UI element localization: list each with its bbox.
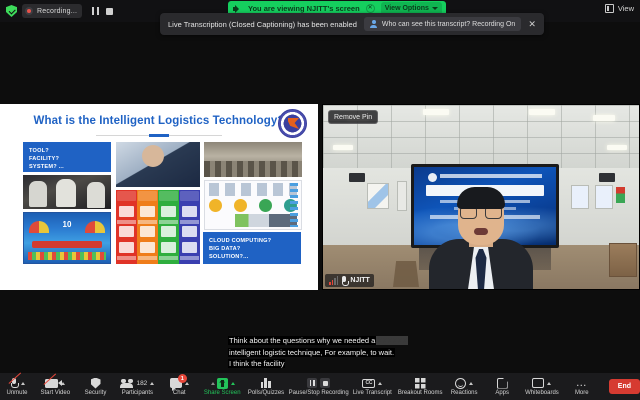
toolbar-start-video-button[interactable]: Start Video	[42, 373, 69, 400]
color-architecture-grid	[116, 190, 200, 264]
conveyor-bar	[32, 241, 102, 248]
grid-label	[159, 220, 178, 224]
caption-line-3: I think the facility	[228, 358, 428, 370]
warehouse-photo	[204, 142, 302, 177]
grid-header	[180, 191, 199, 201]
toolbar-recording-label: Pause/Stop Recording	[289, 390, 349, 396]
pause-recording-icon[interactable]	[307, 378, 317, 388]
grid-tile	[140, 226, 155, 237]
toolbar-participants-label: Participants	[122, 390, 153, 396]
chevron-up-icon[interactable]	[231, 382, 235, 385]
grid-header	[138, 191, 157, 201]
end-meeting-button[interactable]: End	[609, 379, 640, 394]
diagram-node	[259, 199, 272, 212]
toast-sub-label: Who can see this transcript? Recording O…	[382, 21, 515, 28]
chair	[393, 261, 419, 287]
share-screen-icon	[217, 378, 228, 389]
diagram-bottom-row	[235, 214, 297, 227]
caption-line-3-text: I think the facility	[228, 359, 285, 368]
closed-captions: Think about the questions why we needed …	[228, 335, 428, 370]
diagram-node	[209, 199, 222, 212]
grid-tile	[161, 206, 176, 217]
chat-icon-wrap: 1	[170, 378, 189, 389]
gauge-left-icon	[29, 221, 49, 233]
toolbar-apps-button[interactable]: Apps	[489, 373, 515, 400]
wall-map-poster	[367, 183, 389, 209]
toast-message: Live Transcription (Closed Captioning) h…	[168, 20, 357, 29]
slide-box-left-line1: TOOL?	[29, 147, 105, 155]
recording-cluster: Recording...	[6, 4, 113, 18]
mouth	[474, 228, 488, 235]
wall-signage	[616, 187, 625, 203]
chevron-up-icon[interactable]	[150, 382, 154, 385]
toolbar-polls-label: Polls/Quizzes	[248, 390, 284, 396]
meeting-toolbar: Unmute Start Video Security 182 Particip…	[0, 373, 640, 400]
record-dot-icon	[25, 7, 33, 15]
participant-name: NJITT	[350, 277, 369, 284]
chat-unread-badge: 1	[178, 374, 187, 383]
speaker-icon	[233, 4, 242, 13]
grid-label	[117, 220, 136, 224]
diagram-top-row	[209, 183, 297, 196]
view-options-label: View Options	[385, 5, 429, 12]
njitt-seal-logo	[278, 109, 307, 138]
businessman-photo	[116, 142, 200, 187]
wall-poster	[595, 185, 613, 209]
dashboard-screenshot: 10	[23, 212, 111, 264]
toolbar-whiteboards-button[interactable]: Whiteboards	[527, 373, 557, 400]
pause-icon[interactable]	[92, 7, 99, 15]
grid-header	[159, 191, 178, 201]
ceiling-light	[423, 109, 449, 115]
apps-icon-wrap	[497, 378, 508, 389]
toolbar-recording-button[interactable]: Pause/Stop Recording	[294, 373, 344, 400]
record-controls-icon	[307, 378, 330, 388]
slide-title: What is the Intelligent Logistics Techno…	[0, 115, 318, 127]
grid-label	[138, 256, 157, 260]
grid-label	[138, 220, 157, 224]
toolbar-participants-button[interactable]: 182 Participants	[123, 373, 153, 400]
toolbar-polls-button[interactable]: Polls/Quizzes	[250, 373, 282, 400]
grid-tile	[140, 206, 155, 217]
wall-speaker	[349, 173, 365, 182]
chat-icon: 1	[170, 378, 182, 388]
grid-tile	[182, 242, 197, 253]
share-screen-icon-wrap	[210, 378, 235, 389]
person-shield-icon	[370, 20, 378, 28]
closed-caption-icon: CC	[362, 379, 375, 388]
chevron-down-icon	[432, 7, 438, 10]
supply-chain-diagram	[204, 180, 302, 230]
toolbar-live-transcript-button[interactable]: CC Live Transcript	[356, 373, 390, 400]
grid-tile	[119, 242, 134, 253]
slide-box-right-line3: SOLUTION?...	[209, 253, 295, 261]
grid-label	[159, 256, 178, 260]
chevron-up-icon[interactable]	[378, 382, 382, 385]
slide-box-right-line2: BIG DATA?	[209, 245, 295, 253]
slide-box-left: TOOL? FACILITY? SYSTEM? ...	[23, 142, 111, 172]
grid-tile	[182, 206, 197, 217]
shared-screen-slide[interactable]: What is the Intelligent Logistics Techno…	[0, 104, 318, 290]
ceiling-light	[529, 109, 555, 115]
polls-icon-wrap	[261, 378, 272, 389]
more-icon: …	[576, 381, 588, 386]
diagram-nodes	[209, 199, 297, 212]
remove-pin-label: Remove Pin	[334, 114, 372, 121]
view-button[interactable]: View	[605, 4, 634, 13]
toolbar-apps-label: Apps	[495, 390, 509, 396]
zoom-meeting-window: Recording... You are viewing NJITT's scr…	[0, 0, 640, 400]
remove-pin-button[interactable]: Remove Pin	[328, 110, 378, 124]
grid-tile	[182, 226, 197, 237]
toolbar-live-transcript-label: Live Transcript	[353, 390, 392, 396]
stop-share-icon[interactable]: ✕	[366, 4, 375, 13]
slide-box-left-line2: FACILITY?	[29, 155, 105, 163]
reactions-icon-wrap	[455, 378, 473, 389]
stop-recording-icon[interactable]	[320, 378, 330, 388]
start-video-icon-wrap	[45, 378, 65, 389]
recording-label: Recording...	[37, 8, 77, 15]
breakout-rooms-icon-wrap	[415, 378, 426, 389]
toolbar-more-button[interactable]: … More	[569, 373, 595, 400]
caption-line-1-text: Think about the questions why we needed …	[228, 336, 376, 345]
toolbar-whiteboards-label: Whiteboards	[525, 390, 559, 396]
view-button-label: View	[618, 4, 634, 13]
wall-poster	[571, 185, 589, 209]
shield-icon	[91, 378, 101, 389]
recording-controls	[92, 7, 113, 15]
grid-tile	[119, 226, 134, 237]
toolbar-unmute-label: Unmute	[6, 390, 27, 396]
toolbar-chat-button[interactable]: 1 Chat	[166, 373, 192, 400]
caption-line-1: Think about the questions why we needed …	[228, 335, 428, 347]
toolbar-unmute-button[interactable]: Unmute	[4, 373, 30, 400]
toolbar-breakout-rooms-label: Breakout Rooms	[398, 390, 443, 396]
slide-box-right: CLOUD COMPUTING? BIG DATA? SOLUTION?...	[203, 232, 301, 264]
chevron-up-icon-left[interactable]	[211, 382, 215, 385]
toolbar-share-screen-label: Share Screen	[204, 390, 241, 396]
wall-speaker	[599, 173, 615, 182]
slide-box-left-line3: SYSTEM? ...	[29, 163, 105, 171]
robots-photo	[23, 175, 111, 209]
grid-tile	[161, 226, 176, 237]
dashboard-value: 10	[63, 220, 72, 229]
participant-video-tile[interactable]: Remove Pin NJITT	[322, 104, 640, 290]
live-transcript-icon-wrap: CC	[362, 378, 382, 389]
wooden-cabinet	[609, 243, 637, 277]
wall-poster	[397, 181, 407, 211]
display-logo-icon	[428, 173, 437, 182]
live-transcription-toast: Live Transcription (Closed Captioning) h…	[160, 13, 544, 35]
toolbar-share-screen-button[interactable]: Share Screen	[206, 373, 238, 400]
diagram-node	[234, 199, 247, 212]
grid-tile	[161, 242, 176, 253]
gauge-right-icon	[85, 221, 105, 233]
participants-count: 182	[136, 380, 147, 387]
security-icon-wrap	[91, 378, 101, 389]
slide-box-right-line1: CLOUD COMPUTING?	[209, 237, 295, 245]
microphone-muted-icon	[10, 378, 18, 389]
apps-icon	[497, 378, 508, 389]
toolbar-breakout-rooms-button[interactable]: Breakout Rooms	[401, 373, 439, 400]
grid-column-orange	[137, 190, 158, 264]
display-line	[440, 174, 542, 178]
stop-icon[interactable]	[106, 8, 113, 15]
viewing-screen-text: You are viewing NJITT's screen	[248, 4, 360, 13]
grid-label	[180, 256, 199, 260]
grid-label	[180, 220, 199, 224]
record-controls-icon-wrap	[307, 378, 330, 389]
grid-column-green	[158, 190, 179, 264]
recording-indicator[interactable]: Recording...	[22, 4, 82, 18]
chevron-up-icon[interactable]	[547, 382, 551, 385]
more-icon-wrap: …	[576, 378, 588, 389]
network-signal-icon	[329, 277, 338, 285]
caption-line-2-text: intelligent logistic technique, For exam…	[228, 348, 395, 357]
classroom-background	[323, 105, 639, 289]
grid-header	[117, 191, 136, 201]
grid-column-red	[116, 190, 137, 264]
ceiling-light	[333, 145, 353, 150]
reactions-icon	[455, 378, 466, 389]
breakout-rooms-icon	[415, 378, 426, 389]
who-can-see-transcript-button[interactable]: Who can see this transcript? Recording O…	[364, 17, 521, 31]
ceiling-light	[607, 145, 627, 150]
toolbar-more-label: More	[575, 390, 589, 396]
unmute-icon-wrap	[10, 378, 25, 389]
participants-icon	[120, 379, 134, 388]
status-chips	[28, 252, 106, 260]
shield-check-icon[interactable]	[6, 5, 17, 17]
caption-line-2: intelligent logistic technique, For exam…	[228, 347, 428, 359]
presenter-person	[429, 197, 533, 289]
diagram-right-rail	[290, 183, 298, 227]
ceiling-light	[593, 115, 615, 121]
camera-muted-icon	[45, 379, 58, 388]
grid-column-blue	[179, 190, 200, 264]
chevron-up-icon[interactable]	[469, 382, 473, 385]
toolbar-reactions-label: Reactions	[451, 390, 478, 396]
participants-icon-wrap: 182	[120, 378, 154, 389]
caption-redacted: XXXXXX	[376, 336, 408, 345]
whiteboard-icon-wrap	[532, 378, 551, 389]
hair	[457, 187, 505, 209]
participant-name-badge: NJITT	[325, 274, 374, 287]
microphone-icon	[341, 276, 347, 285]
toolbar-reactions-button[interactable]: Reactions	[451, 373, 477, 400]
toolbar-security-label: Security	[85, 390, 107, 396]
close-icon[interactable]: ✕	[528, 20, 536, 29]
toolbar-security-button[interactable]: Security	[83, 373, 109, 400]
title-divider	[96, 135, 222, 136]
grid-tile	[119, 206, 134, 217]
whiteboard-icon	[532, 378, 544, 388]
layout-view-icon	[605, 4, 614, 13]
grid-tile	[140, 242, 155, 253]
grid-label	[117, 256, 136, 260]
polls-icon	[261, 378, 272, 388]
